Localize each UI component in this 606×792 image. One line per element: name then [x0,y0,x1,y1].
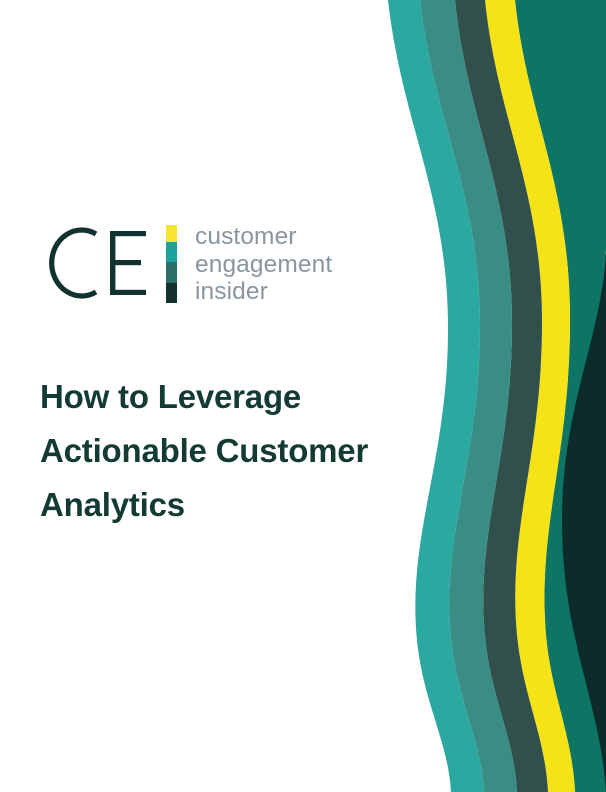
wave-band-darkest-green [545,0,606,200]
logo-letters-ce [48,222,156,304]
logo-letter-c [52,230,96,296]
wave-band-slate-teal [455,0,548,792]
page-title-line-1: How to Leverage [40,370,440,424]
logo-wordmark-line-2: engagement [195,251,332,279]
logo-wordmark-line-1: customer [195,223,332,251]
page-title: How to Leverage Actionable Customer Anal… [40,370,440,532]
cei-logo: customer engagement insider [48,222,332,306]
logo-wordmark: customer engagement insider [195,223,332,306]
logo-wordmark-line-3: insider [195,278,332,306]
wave-band-yellow [485,0,575,792]
logo-accent-segment-darkest-green [166,283,177,303]
logo-accent-segment-yellow [166,225,177,242]
wave-band-green [515,0,606,792]
logo-accent-segment-dark-teal [166,262,177,282]
logo-letter-e [110,231,146,295]
page-title-line-3: Analytics [40,478,440,532]
logo-accent-segment-teal [166,242,177,262]
logo-accent-bar [166,225,177,303]
report-cover-page: customer engagement insider How to Lever… [0,0,606,792]
wave-band-darkest-green-2 [545,0,606,792]
page-title-line-2: Actionable Customer [40,424,440,478]
